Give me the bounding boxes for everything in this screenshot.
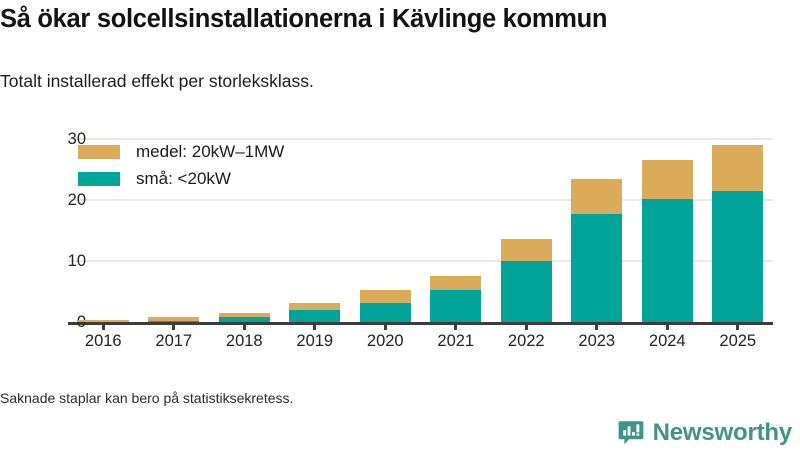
x-tick-mark	[243, 322, 246, 330]
bar-segment-medel[interactable]	[712, 145, 763, 191]
x-tick-mark	[313, 322, 316, 330]
bar-segment-medel[interactable]	[148, 317, 199, 321]
x-axis: 2016201720182019202020212022202320242025	[68, 322, 773, 362]
bar-segment-sma[interactable]	[360, 303, 411, 323]
newsworthy-logo[interactable]: Newsworthy	[618, 418, 792, 448]
x-tick-label: 2017	[139, 332, 209, 352]
x-tick-mark	[384, 322, 387, 330]
footnote: Saknade staplar kan bero på statistiksek…	[0, 390, 293, 406]
bar-segment-medel[interactable]	[289, 303, 340, 310]
bar-group[interactable]	[289, 130, 340, 322]
bar-segment-sma[interactable]	[430, 290, 481, 322]
bar-segment-sma[interactable]	[712, 191, 763, 322]
x-tick-label: 2018	[209, 332, 279, 352]
x-tick-label: 2020	[350, 332, 420, 352]
bar-segment-medel[interactable]	[430, 276, 481, 291]
legend-item[interactable]: små: <20kW	[78, 167, 284, 191]
bar-segment-sma[interactable]	[501, 261, 552, 322]
x-tick-mark	[736, 322, 739, 330]
bar-group[interactable]	[360, 130, 411, 322]
x-tick-label: 2025	[703, 332, 773, 352]
bar-group[interactable]	[642, 130, 693, 322]
x-tick-mark	[102, 322, 105, 330]
bar-chart-speech-bubble-icon	[618, 420, 644, 446]
bar-segment-medel[interactable]	[501, 239, 552, 261]
legend-swatch	[78, 145, 120, 159]
x-tick-mark	[666, 322, 669, 330]
legend-label: medel: 20kW–1MW	[136, 142, 284, 162]
chart-subtitle: Totalt installerad effekt per storlekskl…	[0, 70, 780, 92]
legend-item[interactable]: medel: 20kW–1MW	[78, 140, 284, 164]
chart-page: Så ökar solcellsinstallationerna i Kävli…	[0, 0, 800, 450]
bar-segment-medel[interactable]	[642, 160, 693, 199]
bar-segment-medel[interactable]	[219, 313, 270, 316]
bar-group[interactable]	[712, 130, 763, 322]
brand-name: Newsworthy	[653, 421, 792, 445]
bar-segment-medel[interactable]	[360, 290, 411, 302]
x-tick-label: 2016	[68, 332, 138, 352]
chart-legend: medel: 20kW–1MWsmå: <20kW	[78, 140, 284, 194]
bar-segment-sma[interactable]	[642, 199, 693, 322]
legend-label: små: <20kW	[136, 169, 231, 189]
legend-swatch	[78, 172, 120, 186]
x-tick-mark	[454, 322, 457, 330]
bar-segment-sma[interactable]	[289, 310, 340, 322]
x-tick-mark	[172, 322, 175, 330]
x-tick-mark	[595, 322, 598, 330]
bar-group[interactable]	[571, 130, 622, 322]
x-tick-label: 2022	[491, 332, 561, 352]
x-tick-label: 2024	[632, 332, 702, 352]
bar-segment-medel[interactable]	[571, 179, 622, 214]
bar-group[interactable]	[501, 130, 552, 322]
bar-segment-sma[interactable]	[571, 214, 622, 322]
x-tick-mark	[525, 322, 528, 330]
x-tick-label: 2023	[562, 332, 632, 352]
x-tick-label: 2021	[421, 332, 491, 352]
bar-group[interactable]	[430, 130, 481, 322]
page-title: Så ökar solcellsinstallationerna i Kävli…	[0, 4, 790, 34]
x-tick-label: 2019	[280, 332, 350, 352]
